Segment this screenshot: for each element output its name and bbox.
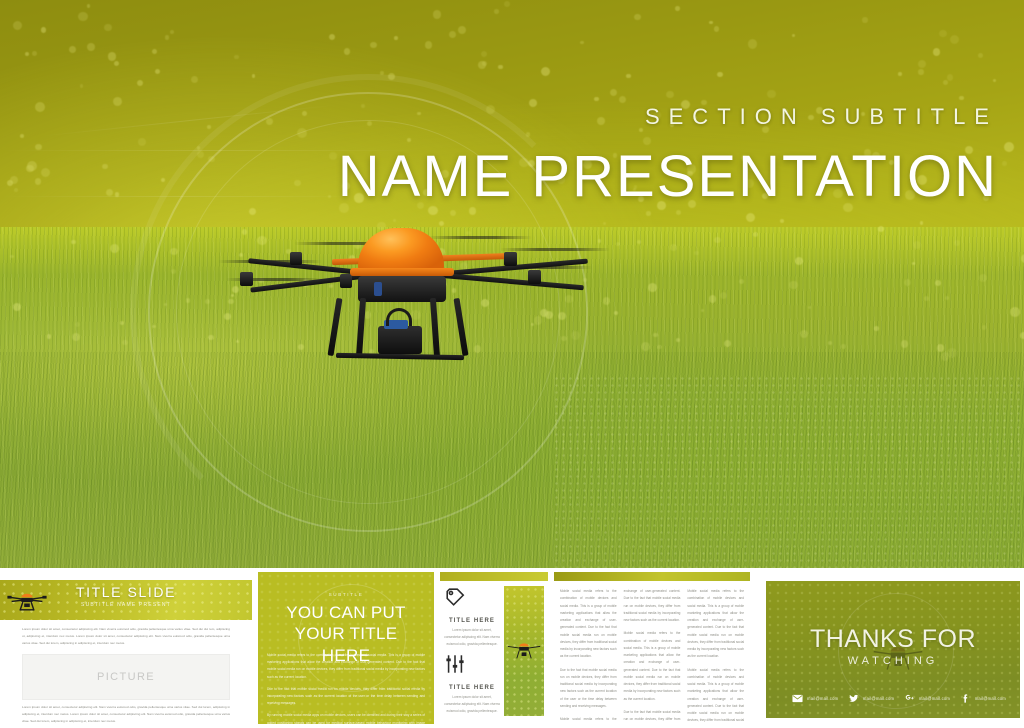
halftone-pattern	[553, 375, 1024, 568]
bokeh-dot	[234, 55, 239, 60]
drone-leg	[356, 298, 366, 358]
bokeh-dot	[69, 46, 76, 53]
drone-blade	[428, 236, 532, 239]
icon-section-2-text: Lorem ipsum dolor sit amet, consectetur …	[444, 694, 500, 715]
social-mail-label: mail@mail.com	[807, 696, 838, 701]
bokeh-dot	[653, 333, 658, 338]
bokeh-dot	[541, 67, 550, 76]
drone-motor	[240, 272, 253, 286]
bokeh-dot	[75, 322, 80, 327]
drone-illustration	[232, 222, 600, 382]
drone-blade	[500, 248, 610, 251]
social-twitter-label: mail@mail.com	[863, 696, 894, 701]
bokeh-dot	[657, 345, 662, 350]
bokeh-dot	[138, 138, 146, 146]
text-column: Mobile social media refers to the combin…	[560, 588, 617, 718]
bokeh-dot	[47, 334, 51, 338]
bokeh-dot	[789, 281, 798, 290]
drone-motor	[528, 270, 541, 284]
bokeh-dot	[646, 211, 650, 215]
bokeh-dot	[724, 340, 731, 347]
bokeh-dot	[224, 313, 231, 320]
bokeh-dot	[102, 164, 108, 170]
column-paragraph: Mobile social media refers to the combin…	[687, 588, 744, 661]
text-columns-container: Mobile social media refers to the combin…	[560, 588, 744, 718]
picture-placeholder[interactable]: PICTURE	[22, 654, 230, 700]
bokeh-dot	[394, 36, 398, 40]
bokeh-dot	[694, 251, 698, 255]
thumb2-paragraph: By running mobile social media apps on m…	[267, 712, 425, 724]
bokeh-dot	[714, 237, 721, 244]
column-paragraph: Mobile social media refers to the combin…	[560, 716, 617, 724]
drone-leg	[430, 298, 440, 358]
bokeh-dot	[950, 35, 959, 44]
bokeh-dot	[165, 35, 170, 40]
google-plus-icon	[904, 693, 915, 704]
bokeh-dot	[388, 73, 395, 80]
bokeh-dot	[666, 91, 674, 99]
bokeh-dot	[920, 221, 923, 224]
bokeh-dot	[41, 27, 47, 33]
drone-motor	[504, 252, 517, 266]
bokeh-dot	[106, 189, 113, 196]
bokeh-dot	[943, 80, 948, 85]
bokeh-dot	[626, 74, 631, 79]
social-link-facebook[interactable]: mail@mail.com	[960, 693, 1006, 704]
bokeh-dot	[616, 242, 620, 246]
bokeh-dot	[1020, 332, 1024, 340]
thumb2-body-text: Mobile social media refers to the combin…	[267, 652, 425, 724]
bokeh-dot	[898, 72, 901, 75]
bokeh-dot	[709, 295, 717, 303]
presentation-preview-page: SECTION SUBTITLE NAME PRESENTATION	[0, 0, 1024, 728]
bokeh-dot	[152, 325, 155, 328]
bokeh-dot	[918, 60, 926, 68]
bokeh-dot	[297, 128, 307, 138]
drone-gimbal-camera	[378, 326, 422, 354]
bokeh-dot	[344, 48, 351, 55]
social-link-google-plus[interactable]: mail@mail.com	[904, 693, 950, 704]
bokeh-dot	[252, 74, 255, 77]
bokeh-dot	[25, 52, 29, 56]
bokeh-dot	[197, 151, 204, 158]
bokeh-dot	[675, 6, 680, 11]
bokeh-dot	[634, 14, 641, 21]
bokeh-dot	[20, 134, 24, 138]
drone-motor	[340, 274, 352, 288]
bokeh-dot	[504, 1, 510, 7]
bokeh-dot	[155, 69, 160, 74]
drone-dome-base	[350, 268, 454, 276]
bokeh-dot	[171, 269, 176, 274]
bokeh-dot	[161, 178, 165, 182]
bokeh-dot	[14, 188, 18, 192]
bokeh-dot	[937, 344, 945, 352]
bokeh-dot	[498, 65, 503, 70]
bokeh-dot	[637, 240, 641, 244]
thumb2-paragraph: Mobile social media refers to the combin…	[267, 652, 425, 681]
bokeh-dot	[670, 244, 676, 250]
social-google-plus-label: mail@mail.com	[919, 696, 950, 701]
bokeh-dot	[1010, 307, 1020, 317]
header-band	[554, 572, 750, 581]
bokeh-dot	[87, 43, 95, 51]
bokeh-dot	[1002, 161, 1007, 166]
social-link-mail[interactable]: mail@mail.com	[792, 693, 838, 704]
bokeh-dot	[954, 240, 959, 245]
bokeh-dot	[72, 333, 80, 341]
bokeh-dot	[494, 9, 499, 14]
bokeh-dot	[978, 53, 983, 58]
bokeh-dot	[170, 30, 174, 34]
bokeh-dot	[808, 306, 812, 310]
picture-placeholder-label: PICTURE	[97, 671, 155, 683]
bokeh-dot	[676, 210, 681, 215]
bokeh-dot	[935, 280, 941, 286]
bokeh-dot	[380, 71, 384, 75]
bokeh-dot	[208, 335, 214, 341]
thumbnail-gap	[548, 572, 554, 724]
bokeh-dot	[207, 125, 211, 129]
bokeh-dot	[137, 80, 143, 86]
bokeh-dot	[191, 76, 198, 83]
bokeh-dot	[795, 257, 804, 266]
bokeh-dot	[913, 241, 921, 249]
bokeh-dot	[186, 298, 191, 303]
bokeh-dot	[164, 303, 167, 306]
column-paragraph: Mobile social media refers to the combin…	[624, 630, 681, 703]
bokeh-dot	[594, 97, 598, 101]
bokeh-dot	[120, 321, 124, 325]
bokeh-dot	[35, 178, 41, 184]
bokeh-dot	[580, 41, 583, 44]
bokeh-dot	[947, 74, 954, 81]
thumbnail-green-title-slide[interactable]: SUBTITLE YOU CAN PUT YOUR TITLE HERE Mob…	[258, 572, 434, 724]
bokeh-dot	[370, 42, 376, 48]
bokeh-dot	[170, 248, 178, 256]
icon-section-1-text: Lorem ipsum dolor sit amet, consectetur …	[444, 627, 500, 648]
icon-section-2: TITLE HERE Lorem ipsum dolor sit amet, c…	[444, 653, 500, 715]
bokeh-dot	[197, 146, 200, 149]
text-column: Mobile social media refers to the combin…	[687, 588, 744, 718]
drone-cable-loop	[386, 308, 412, 326]
bokeh-dot	[87, 4, 90, 7]
thumb2-paragraph: Due to the fact that mobile social media…	[267, 686, 425, 708]
thumb1-title: TITLE SLIDE	[0, 584, 252, 600]
column-paragraph: Mobile social media refers to the combin…	[687, 667, 744, 725]
bokeh-dot	[959, 96, 964, 101]
drone-motor	[290, 252, 302, 265]
sliders-icon	[444, 653, 466, 675]
bokeh-dot	[205, 299, 209, 303]
bokeh-dot	[918, 69, 923, 74]
bokeh-dot	[122, 340, 128, 346]
bokeh-dot	[80, 84, 84, 88]
bokeh-dot	[982, 325, 987, 330]
icon-section-1-title: TITLE HERE	[444, 618, 500, 624]
bokeh-dot	[78, 12, 87, 21]
bokeh-dot	[676, 338, 680, 342]
bokeh-dot	[939, 30, 946, 37]
thanks-photo-background: THANKS FOR WATCHING mail@mail.com	[766, 581, 1020, 718]
bokeh-dot	[26, 165, 33, 172]
bokeh-dot	[841, 344, 845, 348]
bokeh-dot	[714, 26, 720, 32]
bokeh-dot	[10, 255, 13, 258]
bokeh-dot	[425, 41, 433, 49]
text-column: exchange of user-generated content. Due …	[624, 588, 681, 718]
bokeh-dot	[302, 111, 307, 116]
bokeh-dot	[35, 102, 45, 112]
bokeh-dot	[13, 21, 22, 30]
tag-icon	[444, 586, 466, 608]
bokeh-dot	[329, 152, 337, 160]
bokeh-dot	[648, 283, 657, 292]
thumbnail-icon-sections-slide[interactable]: TITLE HERE Lorem ipsum dolor sit amet, c…	[440, 572, 548, 724]
bokeh-dot	[481, 51, 487, 57]
bokeh-dot	[901, 340, 909, 348]
bokeh-dot	[610, 89, 617, 96]
bokeh-dot	[458, 26, 466, 34]
thumb3-drone-photo	[504, 586, 544, 716]
bokeh-dot	[32, 51, 37, 56]
thumbnail-gap	[434, 572, 440, 724]
thumb1-subtitle: SUBTITLE NAME PRESENT	[0, 602, 252, 608]
bokeh-dot	[266, 118, 273, 125]
thumbnail-title-slide[interactable]: TITLE SLIDE SUBTITLE NAME PRESENT Lorem …	[0, 572, 252, 724]
bokeh-dot	[904, 279, 911, 286]
bokeh-dot	[720, 292, 727, 299]
bokeh-dot	[110, 244, 119, 253]
bokeh-dot	[641, 342, 650, 351]
twitter-icon	[848, 693, 859, 704]
bokeh-dot	[329, 34, 335, 40]
bokeh-dot	[249, 208, 256, 215]
bokeh-dot	[108, 52, 117, 61]
bokeh-dot	[71, 240, 76, 245]
social-facebook-label: mail@mail.com	[975, 696, 1006, 701]
social-links-row: mail@mail.com mail@mail.com mail@ma	[792, 693, 1006, 704]
bokeh-dot	[780, 219, 784, 223]
hero-slide[interactable]: SECTION SUBTITLE NAME PRESENTATION	[0, 0, 1024, 568]
bokeh-dot	[912, 262, 915, 265]
thumb1-paragraph-top: Lorem ipsum dolor sit amet, consectetur …	[22, 626, 230, 647]
bokeh-dot	[709, 21, 713, 25]
bokeh-dot	[104, 24, 112, 32]
drone-indicator	[374, 282, 382, 296]
bokeh-dot	[993, 79, 996, 82]
hero-subtitle: SECTION SUBTITLE	[338, 104, 998, 130]
bokeh-dot	[13, 303, 21, 311]
bokeh-dot	[862, 17, 867, 22]
column-paragraph: Mobile social media refers to the combin…	[560, 588, 617, 661]
thumb1-paragraph-bottom: Lorem ipsum dolor sit amet, consectetur …	[22, 704, 230, 724]
bokeh-dot	[113, 97, 122, 106]
slide-thumbnail-strip: TITLE SLIDE SUBTITLE NAME PRESENT Lorem …	[0, 568, 1024, 728]
icon-section-1: TITLE HERE Lorem ipsum dolor sit amet, c…	[444, 586, 500, 648]
bokeh-dot	[208, 156, 215, 163]
icon-section-2-title: TITLE HERE	[444, 685, 500, 691]
bokeh-dot	[792, 34, 796, 38]
light-streak	[0, 196, 360, 197]
thumb2-subtitle: SUBTITLE	[258, 592, 434, 597]
bokeh-dot	[878, 226, 884, 232]
bokeh-dot	[114, 61, 119, 66]
header-band	[440, 572, 548, 581]
thumbnail-text-columns-slide[interactable]: Mobile social media refers to the combin…	[554, 572, 750, 724]
bokeh-dot	[739, 279, 744, 284]
mail-icon	[792, 693, 803, 704]
bokeh-dot	[152, 49, 157, 54]
facebook-icon	[960, 693, 971, 704]
bokeh-dot	[945, 296, 949, 300]
bokeh-dot	[979, 274, 987, 282]
bokeh-dot	[767, 90, 775, 98]
bokeh-dot	[753, 232, 758, 237]
drone-leg	[328, 298, 343, 356]
thanks-title: THANKS FOR	[766, 625, 1020, 654]
bokeh-dot	[924, 296, 929, 301]
bokeh-dot	[746, 213, 755, 222]
bokeh-dot	[947, 348, 957, 358]
bokeh-dot	[800, 330, 808, 338]
thanks-subtitle: WATCHING	[766, 655, 1020, 667]
hero-text-block: SECTION SUBTITLE NAME PRESENTATION	[338, 104, 998, 207]
drone-leg	[454, 298, 469, 356]
column-paragraph: Due to the fact that mobile social media…	[624, 709, 681, 724]
column-paragraph: exchange of user-generated content. Due …	[624, 588, 681, 624]
bokeh-dot	[701, 309, 704, 312]
bokeh-dot	[41, 168, 50, 177]
social-link-twitter[interactable]: mail@mail.com	[848, 693, 894, 704]
thumbnail-gap	[750, 572, 756, 724]
bokeh-dot	[450, 210, 456, 216]
hero-title: NAME PRESENTATION	[338, 146, 998, 207]
bokeh-dot	[433, 10, 441, 18]
bokeh-dot	[294, 180, 300, 186]
bokeh-dot	[828, 341, 832, 345]
bokeh-dot	[10, 176, 18, 184]
bokeh-dot	[603, 222, 606, 225]
bokeh-dot	[1004, 142, 1014, 152]
bokeh-dot	[717, 72, 722, 77]
column-paragraph: Due to the fact that mobile social media…	[560, 667, 617, 711]
thumbnail-thanks-slide[interactable]: THANKS FOR WATCHING mail@mail.com	[756, 572, 1024, 724]
bokeh-dot	[933, 48, 941, 56]
drone-illustration-small	[506, 638, 542, 662]
bokeh-dot	[603, 297, 611, 305]
bokeh-dot	[619, 96, 626, 103]
bokeh-dot	[874, 326, 879, 331]
bokeh-dot	[449, 31, 456, 38]
bokeh-dot	[748, 39, 758, 49]
bokeh-dot	[478, 61, 486, 69]
thumbnail-gap	[252, 572, 258, 724]
bokeh-dot	[614, 311, 618, 315]
